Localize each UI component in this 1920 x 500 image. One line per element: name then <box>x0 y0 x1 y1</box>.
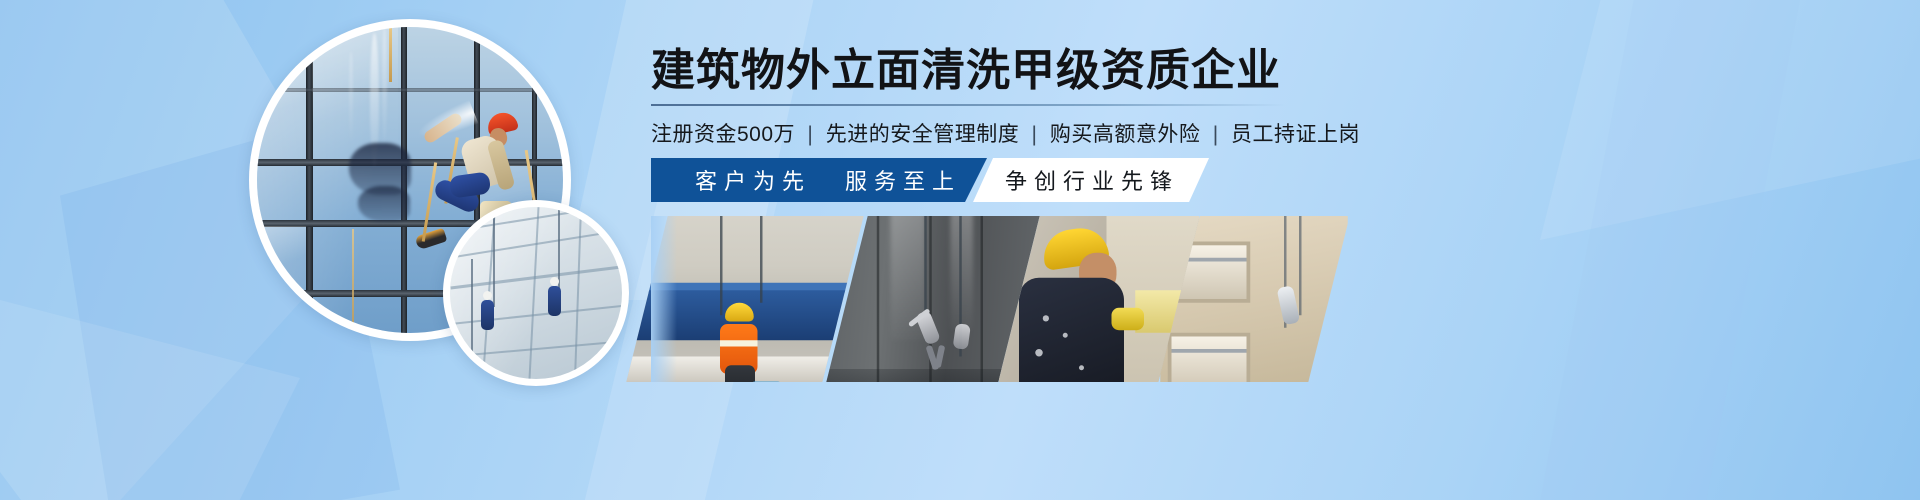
slogan-ribbon: 客户为先 服务至上 争创行业先锋 <box>651 158 1209 202</box>
background-facet-shape <box>1540 0 1920 240</box>
subtitle-separator: | <box>1026 123 1044 146</box>
slogan-industry-pioneer: 争创行业先锋 <box>1005 164 1179 196</box>
subtitle-separator: | <box>1207 123 1225 146</box>
circle-photo-small <box>450 207 622 379</box>
subtitle-separator: | <box>801 123 819 146</box>
strip-left-fade <box>651 216 677 382</box>
promo-banner: 建筑物外立面清洗甲级资质企业 注册资金500万 | 先进的安全管理制度 | 购买… <box>0 0 1920 500</box>
subtitle-part-2: 先进的安全管理制度 <box>826 123 1020 146</box>
title-underline <box>651 104 1286 106</box>
background-facet-shape <box>0 300 300 500</box>
banner-text-block: 建筑物外立面清洗甲级资质企业 注册资金500万 | 先进的安全管理制度 | 购买… <box>651 46 1301 148</box>
background-facet-shape <box>1540 0 1800 500</box>
subtitle-part-3: 购买高额意外险 <box>1050 123 1201 146</box>
subtitle-part-4: 员工持证上岗 <box>1231 123 1360 146</box>
photo-strip <box>651 216 1291 382</box>
slogan-ribbon-secondary: 争创行业先锋 <box>973 158 1209 202</box>
slogan-customer-first: 客户为先 <box>695 164 811 196</box>
slogan-service-supreme: 服务至上 <box>845 164 961 196</box>
subtitle-part-1: 注册资金500万 <box>651 123 795 146</box>
subtitle: 注册资金500万 | 先进的安全管理制度 | 购买高额意外险 | 员工持证上岗 <box>651 118 1301 148</box>
white-facade-photo <box>450 207 622 379</box>
page-title: 建筑物外立面清洗甲级资质企业 <box>651 46 1301 95</box>
slogan-ribbon-primary: 客户为先 服务至上 <box>651 158 987 202</box>
